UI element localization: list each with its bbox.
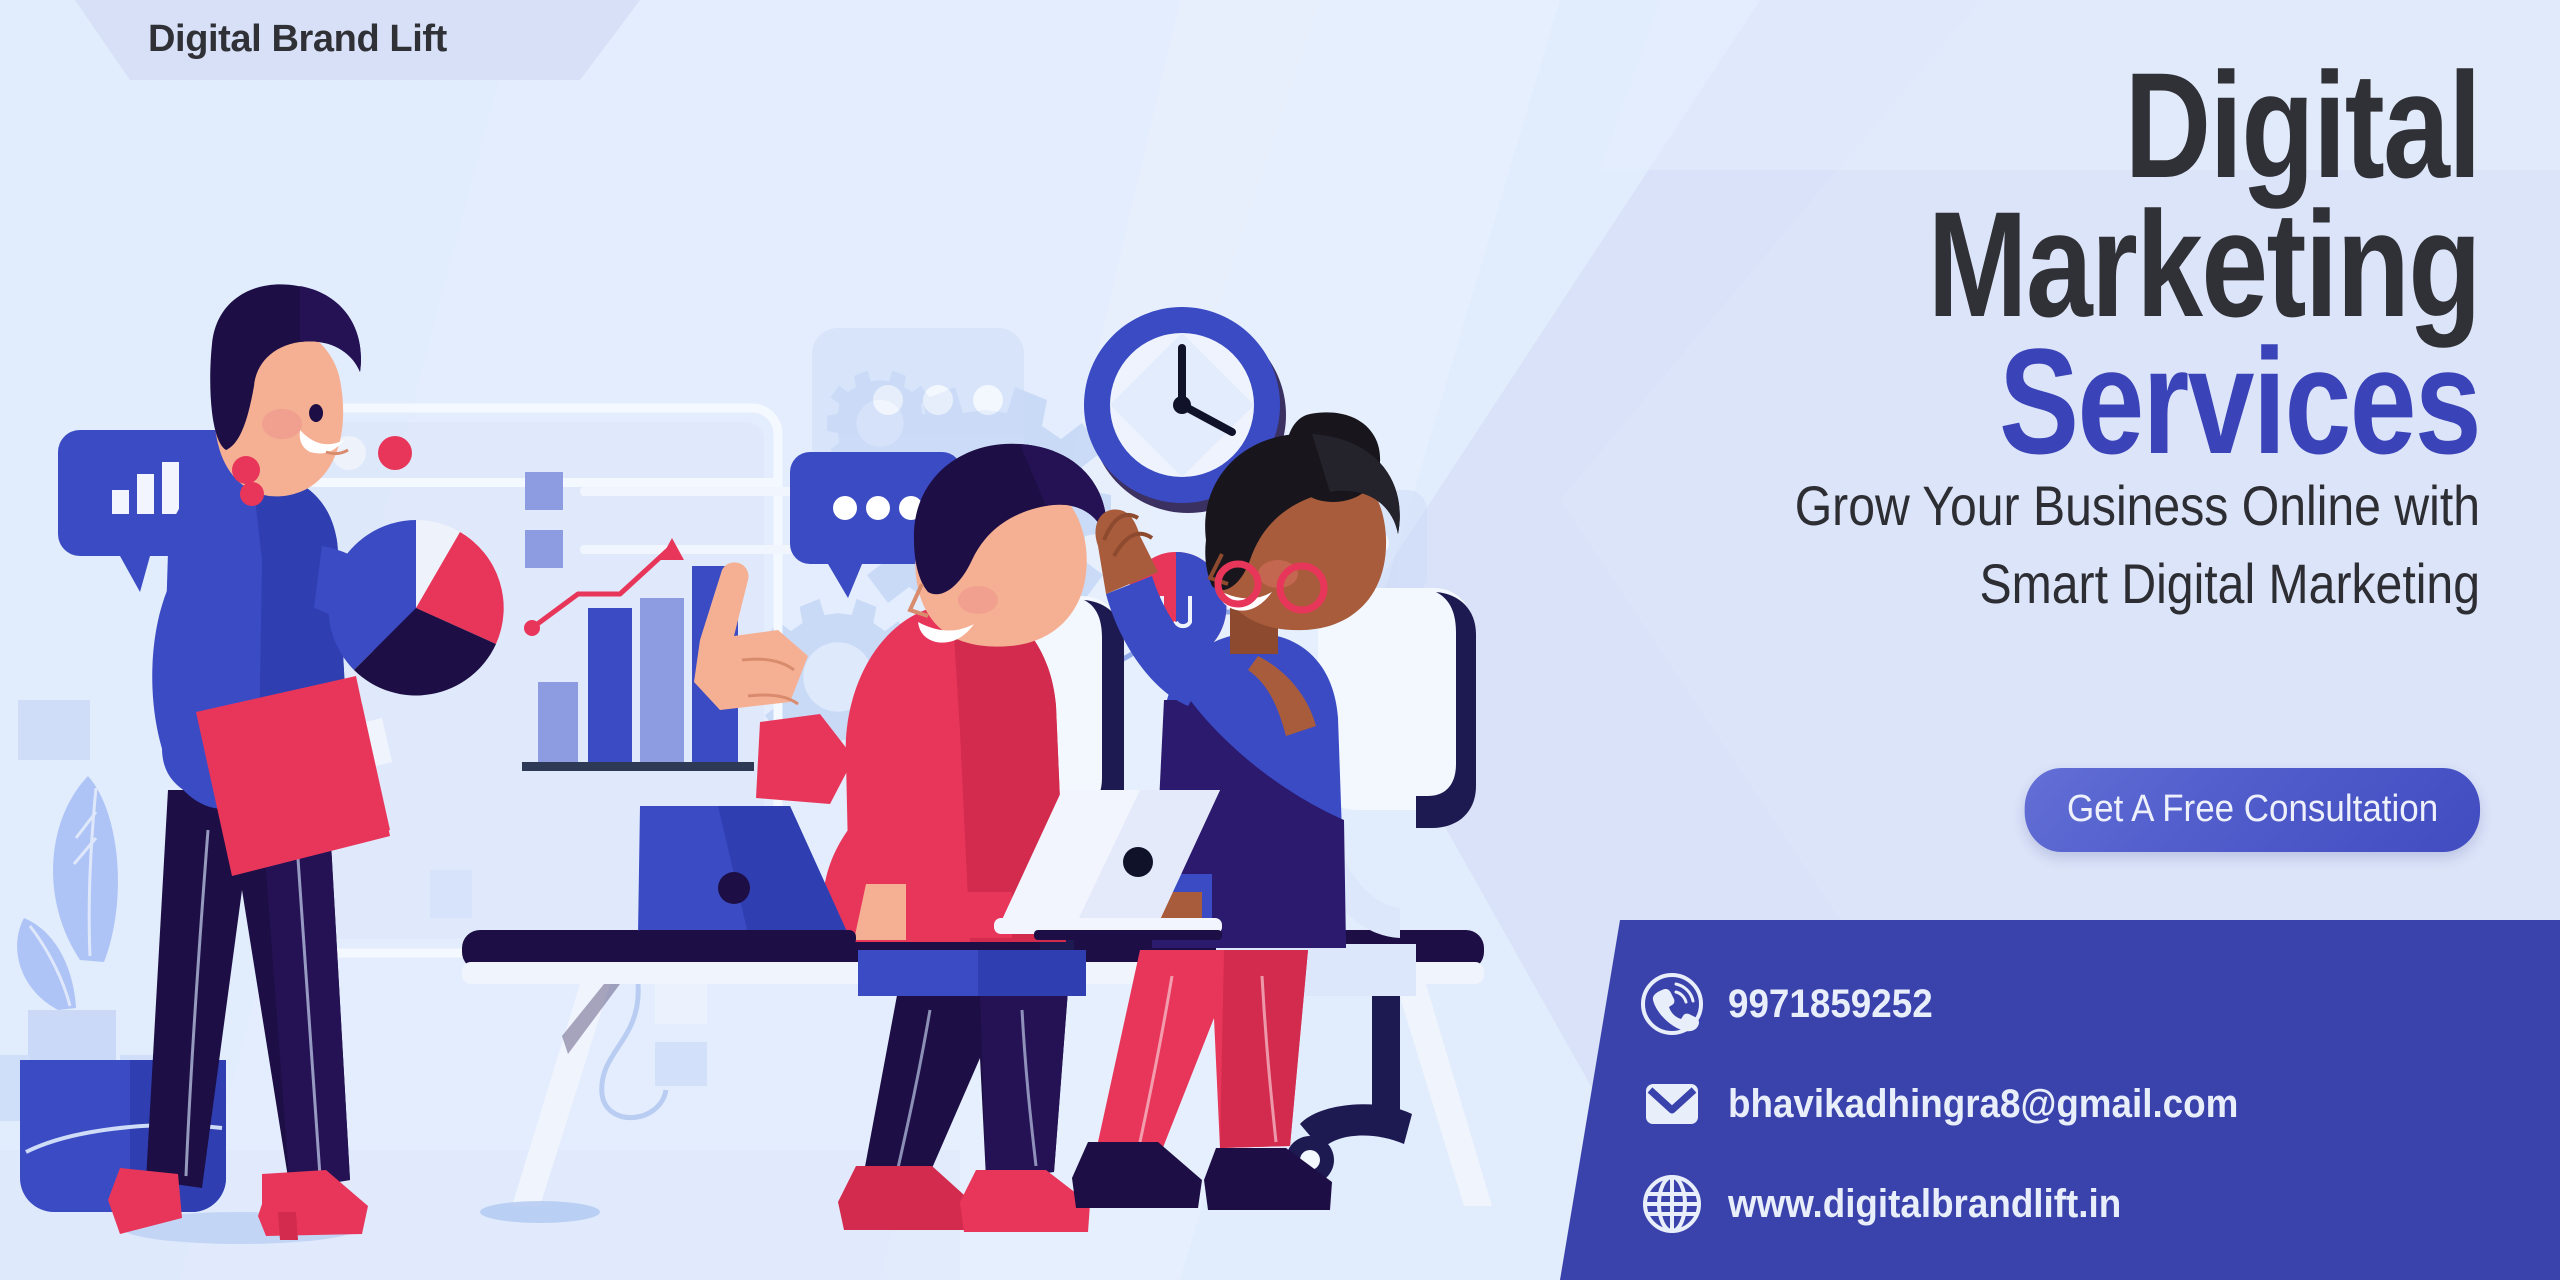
globe-icon: [1640, 1172, 1704, 1236]
subtitle-line-2: Smart Digital Marketing: [1568, 549, 2480, 619]
laptop-dark: [634, 806, 856, 946]
email-icon: [1640, 1072, 1704, 1136]
contact-row-website[interactable]: www.digitalbrandlift.in: [1640, 1154, 2560, 1254]
headline-block: Digital Marketing Services Grow Your Bus…: [1420, 58, 2480, 619]
email-value: bhavikadhingra8@gmail.com: [1728, 1082, 2238, 1127]
phone-icon: [1640, 972, 1704, 1036]
subtitle-line-1: Grow Your Business Online with: [1568, 471, 2480, 541]
logo-text: Digital Brand Lift: [148, 18, 447, 61]
cta-row: Get A Free Consultation: [1985, 768, 2480, 852]
headline-line-2: Marketing: [1632, 197, 2480, 332]
headline-line-3: Services: [1632, 334, 2480, 469]
headline-line-1: Digital: [1632, 58, 2480, 193]
pie-chart-illustration: [328, 520, 503, 695]
contact-bar: 9971859252 bhavikadhingra8@gmail.com: [1560, 920, 2560, 1280]
marketing-banner: Digital Brand Lift: [0, 0, 2560, 1280]
phone-value: 9971859252: [1728, 982, 1933, 1027]
contact-row-phone[interactable]: 9971859252: [1640, 954, 2560, 1054]
website-value: www.digitalbrandlift.in: [1728, 1182, 2121, 1227]
get-free-consultation-button[interactable]: Get A Free Consultation: [2024, 768, 2480, 852]
contact-row-email[interactable]: bhavikadhingra8@gmail.com: [1640, 1054, 2560, 1154]
